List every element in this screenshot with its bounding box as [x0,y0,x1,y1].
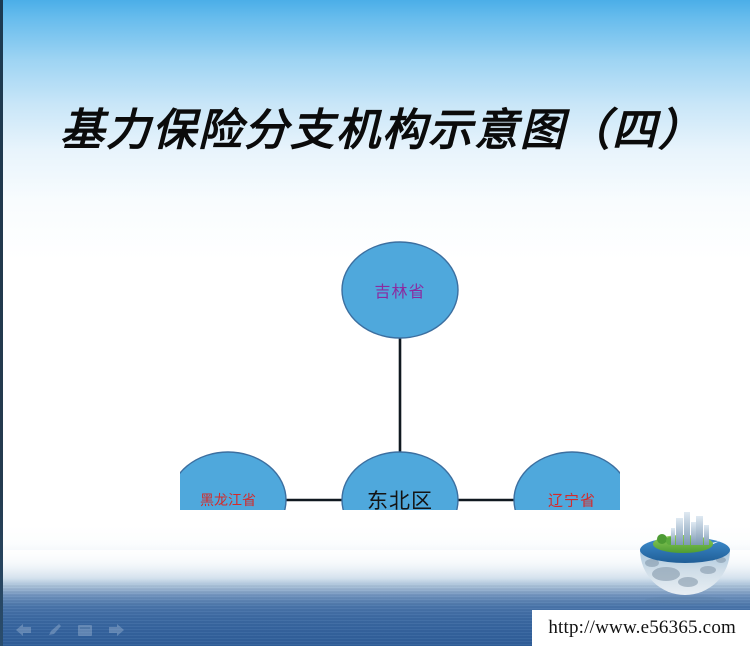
menu-icon[interactable] [76,622,94,638]
globe-city-logo [626,508,744,604]
org-diagram-svg [180,190,620,510]
node-ellipse-heilongjiang[interactable] [180,452,286,510]
page-title: 基力保险分支机构示意图（四） [60,103,700,159]
node-ellipse-liaoning[interactable] [514,452,620,510]
previous-icon[interactable] [14,622,34,638]
next-icon[interactable] [106,622,126,638]
website-url-bar: http://www.e56365.com [532,610,750,646]
node-ellipse-jilin[interactable] [342,242,458,338]
node-ellipse-center[interactable] [342,452,458,510]
website-url-text[interactable]: http://www.e56365.com [548,617,736,639]
left-edge-border [0,0,3,646]
pen-icon[interactable] [46,622,64,638]
slideshow-nav-toolbar[interactable] [14,622,126,638]
org-diagram: 吉林省 黑龙江省 东北区 辽宁省 内蒙古 [180,190,620,510]
logo-shadow [645,596,725,604]
tree-icon [657,534,667,544]
slide-canvas: 基力保险分支机构示意图（四） 吉林省 黑龙江省 东北区 辽宁省 内蒙古 [0,0,750,646]
